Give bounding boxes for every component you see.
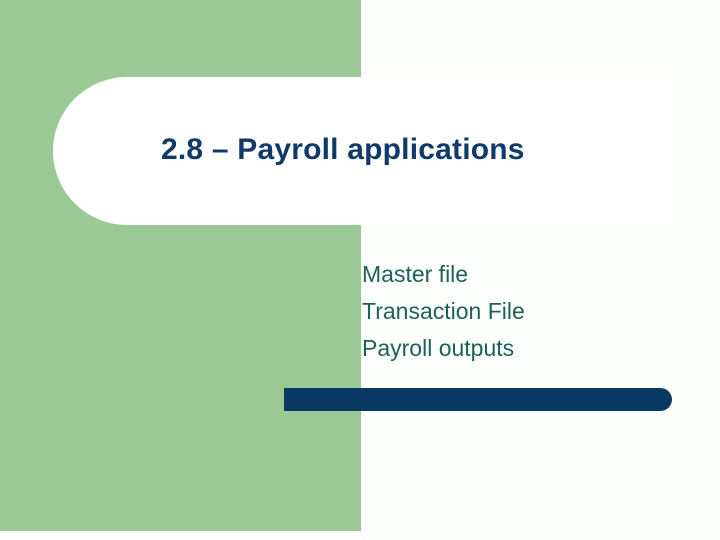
body-text-list: Master file Transaction File Payroll out…: [362, 256, 702, 367]
slide-canvas: 2.8 – Payroll applications Master file T…: [0, 0, 720, 540]
page-title: 2.8 – Payroll applications: [161, 130, 681, 170]
list-item: Payroll outputs: [362, 330, 702, 367]
list-item: Transaction File: [362, 293, 702, 330]
list-item: Master file: [362, 256, 702, 293]
bottom-white-strip: [0, 531, 361, 540]
accent-bar-shape: [284, 388, 672, 411]
